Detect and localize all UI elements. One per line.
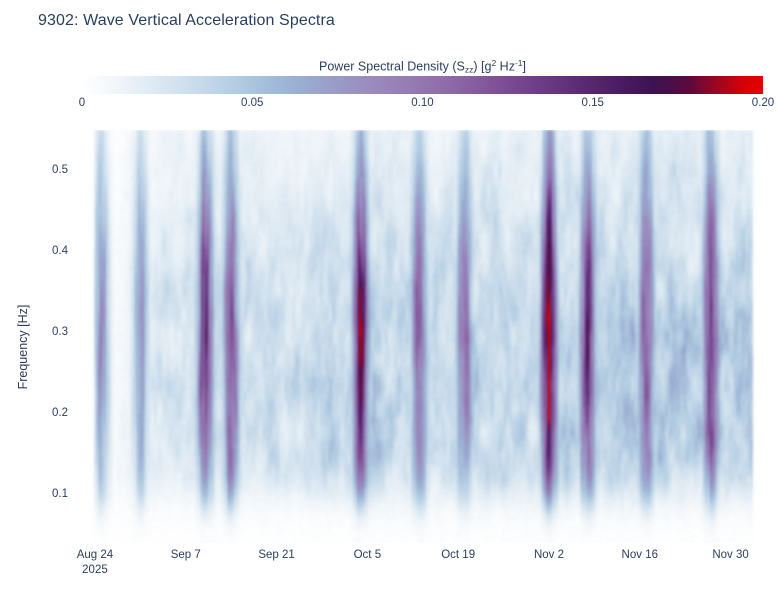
x-axis-tick-label: Oct 19 xyxy=(441,549,475,561)
x-axis-tick: Sep 7 xyxy=(171,548,201,563)
colorbar-gradient xyxy=(82,76,763,94)
colorbar: Power Spectral Density (Szz) [g2 Hz-1] 0… xyxy=(82,56,763,72)
colorbar-title-superscript-inverse: -1 xyxy=(515,58,523,68)
x-axis-tick: Oct 5 xyxy=(354,548,381,563)
x-axis-tick-label: Nov 16 xyxy=(622,549,658,561)
colorbar-tick-labels: 0 0.05 0.10 0.15 0.20 xyxy=(82,97,763,113)
spectrogram-figure: 9302: Wave Vertical Acceleration Spectra… xyxy=(0,0,780,615)
colorbar-tick: 0.15 xyxy=(582,97,604,109)
x-axis-tick: Nov 2 xyxy=(534,548,564,563)
y-axis-tick: 0.1 xyxy=(52,488,68,500)
x-axis-tick-labels: Aug 242025Sep 7Sep 21Oct 5Oct 19Nov 2Nov… xyxy=(0,548,780,588)
x-axis-tick: Aug 242025 xyxy=(77,548,113,578)
x-axis-tick: Oct 19 xyxy=(441,548,475,563)
y-axis-tick: 0.3 xyxy=(52,326,68,338)
colorbar-title: Power Spectral Density (Szz) [g2 Hz-1] xyxy=(82,56,763,72)
colorbar-tick: 0.10 xyxy=(411,97,433,109)
colorbar-tick: 0.05 xyxy=(241,97,263,109)
colorbar-tick: 0 xyxy=(79,97,85,109)
spectrogram-heatmap xyxy=(82,130,763,543)
y-axis-tick: 0.2 xyxy=(52,407,68,419)
y-axis-tick-labels: 0.5 0.4 0.3 0.2 0.1 xyxy=(0,130,78,543)
page-title: 9302: Wave Vertical Acceleration Spectra xyxy=(38,12,335,30)
colorbar-title-main: Power Spectral Density (S xyxy=(319,59,465,73)
x-axis-tick-label: Sep 21 xyxy=(258,549,294,561)
x-axis-tick-label: Sep 7 xyxy=(171,549,201,561)
colorbar-tick: 0.20 xyxy=(752,97,774,109)
y-axis-tick: 0.4 xyxy=(52,245,68,257)
x-axis-tick-label: Oct 5 xyxy=(354,549,381,561)
x-axis-tick: Sep 21 xyxy=(258,548,294,563)
colorbar-title-mid: ) [g xyxy=(473,59,491,73)
x-axis-tick-label: Nov 2 xyxy=(534,549,564,561)
x-axis-tick-label: Aug 24 xyxy=(77,549,113,561)
y-axis-tick: 0.5 xyxy=(52,164,68,176)
x-axis-tick: Nov 16 xyxy=(622,548,658,563)
colorbar-title-end: ] xyxy=(523,59,526,73)
x-axis-tick-label: Nov 30 xyxy=(712,549,748,561)
colorbar-title-unit: Hz xyxy=(496,59,515,73)
x-axis-tick: Nov 30 xyxy=(712,548,748,563)
x-axis-year-label: 2025 xyxy=(77,563,113,578)
